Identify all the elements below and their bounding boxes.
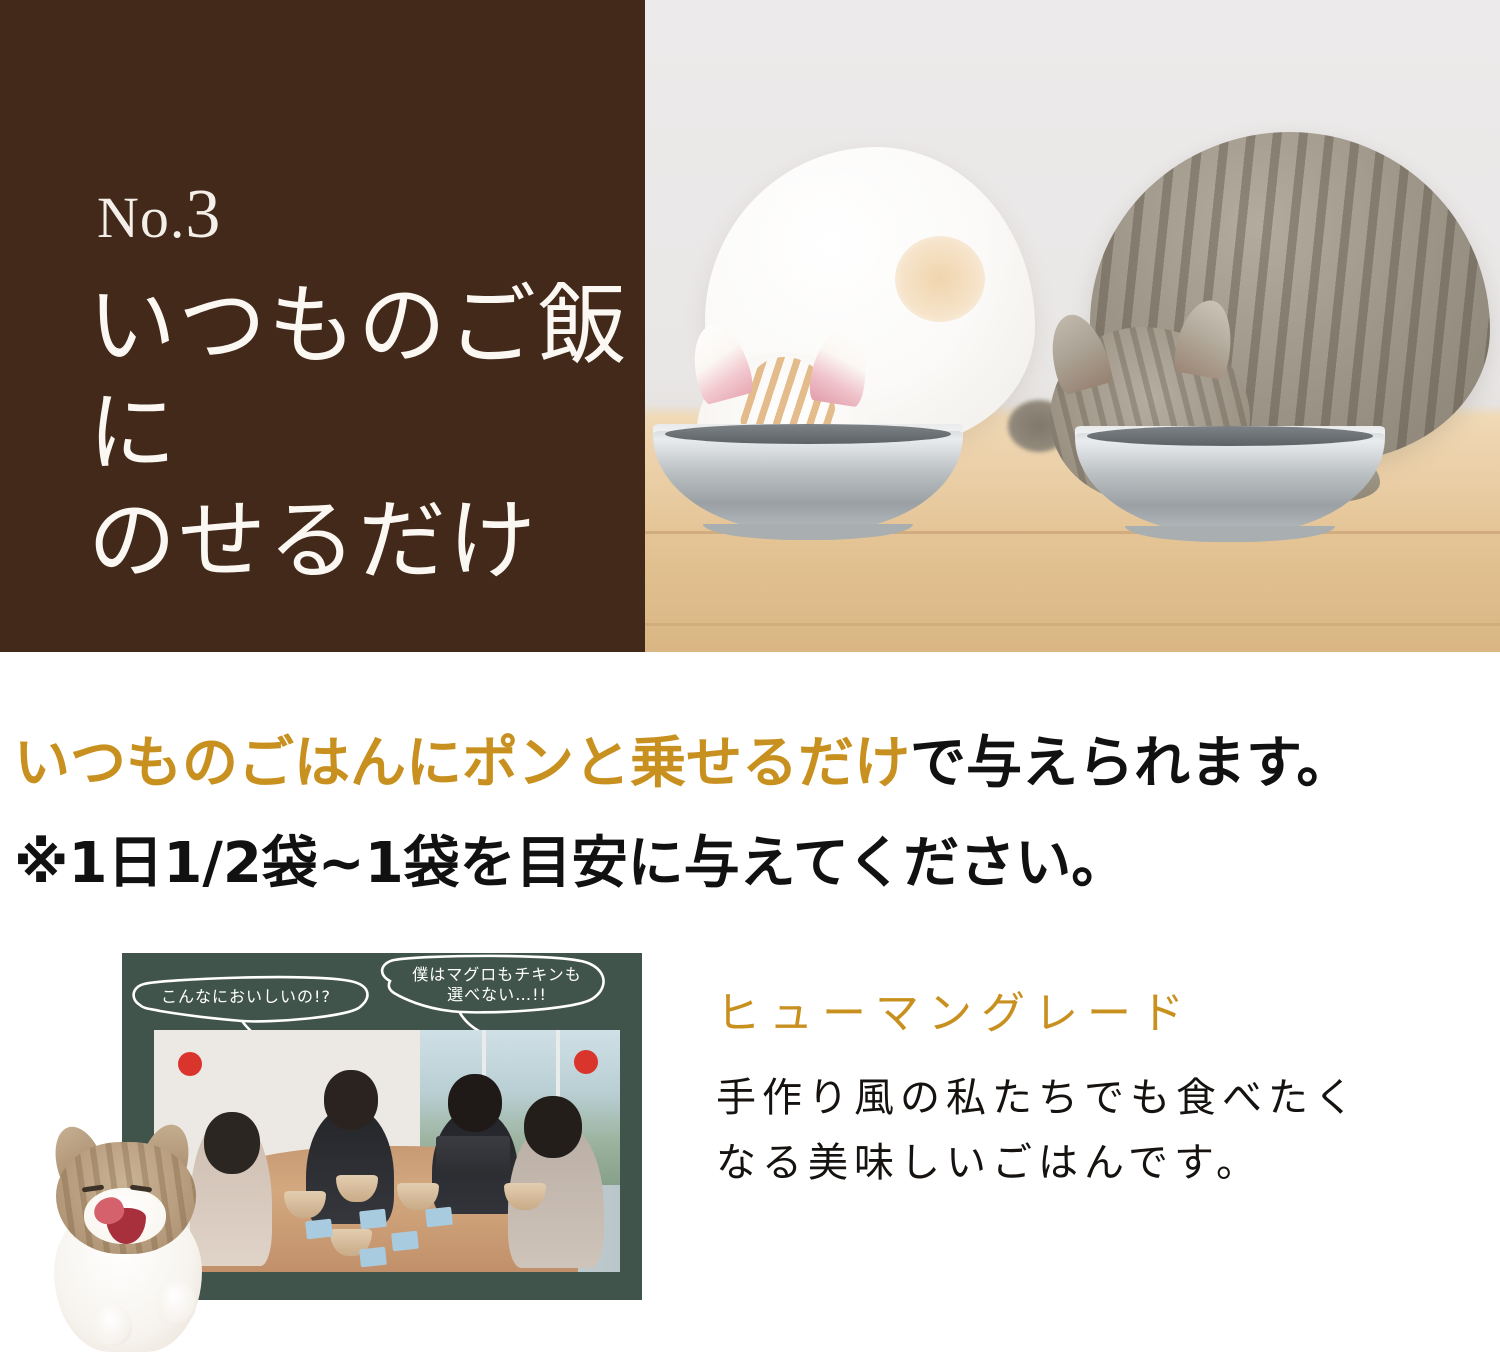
tasting-note-card [359, 1209, 387, 1230]
feature-block: ヒューマングレード 手作り風の私たちでも食べたく なる美味しいごはんです。 [716, 992, 1416, 1196]
person-3-head [448, 1074, 502, 1132]
floor-seam-secondary [645, 623, 1500, 626]
tasting-note-card [425, 1207, 453, 1228]
white-cat-ginger-patch [895, 236, 985, 322]
hero-photo-cats-eating [645, 0, 1500, 652]
copy-line-note: ※1日1/2袋~1袋を目安に与えてください。 [14, 836, 1127, 892]
feature-title: ヒューマングレード [716, 992, 1416, 1036]
red-dot-marker-right [574, 1050, 598, 1074]
hero-brown-panel: No.3 いつものご飯に のせるだけ [0, 0, 645, 652]
badge-number: 3 [185, 176, 221, 253]
speech-bubble-right: 僕はマグロもチキンも 選べない…!! [392, 965, 602, 1005]
copy-line-primary: いつものごはんにポンと乗せるだけで与えられます。 [14, 736, 1352, 792]
speech-bubble-left: こんなにおいしいの!? [146, 987, 346, 1007]
laptop [436, 1136, 510, 1176]
hero-section: No.3 いつものご飯に のせるだけ [0, 0, 1500, 652]
hero-title: いつものご飯に のせるだけ [88, 272, 645, 594]
red-dot-marker-left [178, 1052, 202, 1076]
copy-highlight: いつものごはんにポンと乗せるだけ [14, 731, 910, 796]
person-4-head [524, 1096, 582, 1158]
video-frame[interactable] [154, 1030, 620, 1272]
copy-rest: で与えられます。 [910, 731, 1352, 796]
cutout-cat-paw-left [92, 1304, 132, 1346]
cutout-cat-paw-right [156, 1282, 196, 1324]
tasting-note-card [359, 1247, 387, 1268]
hero-badge-number: No.3 [97, 180, 221, 250]
feature-body: 手作り風の私たちでも食べたく なる美味しいごはんです。 [716, 1066, 1416, 1196]
badge-prefix: No. [97, 185, 185, 250]
tasting-note-card [391, 1231, 419, 1252]
tasting-note-card [305, 1219, 333, 1240]
person-2-head [324, 1070, 378, 1130]
cat-cutout-illustration [32, 1128, 222, 1350]
